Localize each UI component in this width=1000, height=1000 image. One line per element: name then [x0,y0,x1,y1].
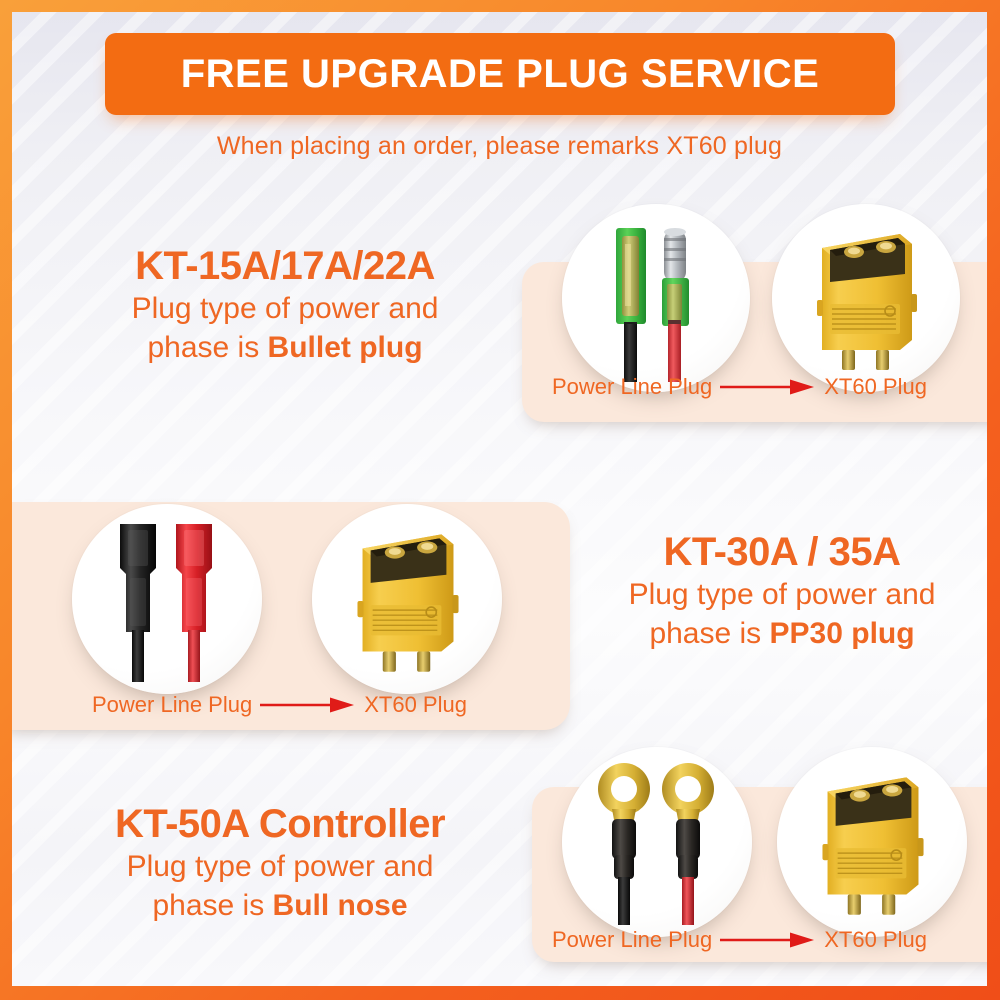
header-banner-title: FREE UPGRADE PLUG SERVICE [181,52,820,97]
pp30-plug-photo [72,504,262,694]
bull-nose-ring-terminal-photo [562,747,752,937]
caption-from-label-kt-30a: Power Line Plug [92,692,252,718]
header-banner: FREE UPGRADE PLUG SERVICE [105,33,895,115]
right-arrow-icon [720,378,816,396]
section-plugtype-kt-50a: Bull nose [273,889,408,922]
section-desc-line1-kt-15a: Plug type of power and [70,289,500,329]
caption-to-label-kt-15a: XT60 Plug [824,374,927,400]
section-desc-line2-kt-30a: phase is PP30 plug [582,614,982,654]
xt60-plug-photo-3 [777,747,967,937]
caption-to-label-kt-50a: XT60 Plug [824,927,927,953]
section-desc-prefix-kt-30a: phase is [649,617,769,650]
section-desc-line1-kt-30a: Plug type of power and [582,575,982,615]
right-arrow-icon [720,931,816,949]
right-arrow-icon [260,696,356,714]
section-plugtype-kt-15a: Bullet plug [268,331,423,364]
section-desc-line2-kt-15a: phase is Bullet plug [70,328,500,368]
section-title-kt-30a: KT-30A / 35A [582,530,982,575]
section-text-kt-30a: KT-30A / 35A Plug type of power and phas… [582,530,982,654]
section-desc-prefix-kt-15a: phase is [147,331,267,364]
caption-kt-30a: Power Line Plug XT60 Plug [92,692,467,718]
xt60-plug-photo-1 [772,204,960,392]
section-plugtype-kt-30a: PP30 plug [770,617,915,650]
header-subtitle: When placing an order, please remarks XT… [12,132,987,161]
section-text-kt-50a: KT-50A Controller Plug type of power and… [60,802,500,926]
section-desc-line1-kt-50a: Plug type of power and [60,847,500,887]
section-desc-line2-kt-50a: phase is Bull nose [60,886,500,926]
poster-stage: FREE UPGRADE PLUG SERVICE When placing a… [12,12,987,986]
caption-from-label-kt-15a: Power Line Plug [552,374,712,400]
caption-to-label-kt-30a: XT60 Plug [364,692,467,718]
caption-from-label-kt-50a: Power Line Plug [552,927,712,953]
section-text-kt-15a: KT-15A/17A/22A Plug type of power and ph… [70,244,500,368]
section-title-kt-50a: KT-50A Controller [60,802,500,847]
section-title-kt-15a: KT-15A/17A/22A [70,244,500,289]
section-desc-prefix-kt-50a: phase is [152,889,272,922]
xt60-plug-photo-2 [312,504,502,694]
caption-kt-50a: Power Line Plug XT60 Plug [552,927,927,953]
poster-frame: FREE UPGRADE PLUG SERVICE When placing a… [0,0,1000,1000]
bullet-plug-photo [562,204,750,392]
caption-kt-15a: Power Line Plug XT60 Plug [552,374,927,400]
